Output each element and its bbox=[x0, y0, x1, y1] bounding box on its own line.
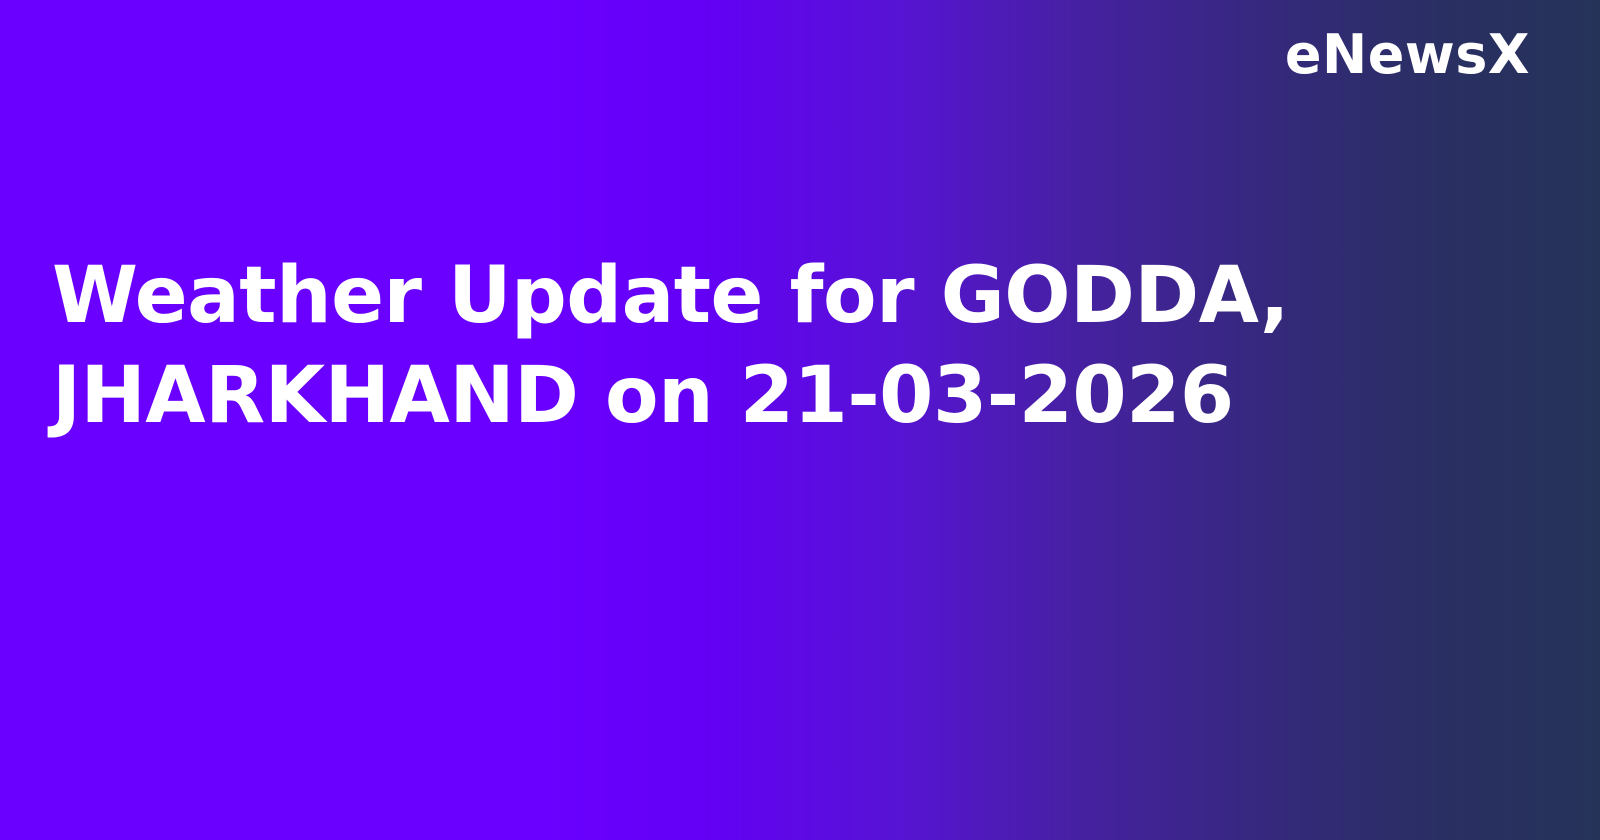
brand-logo-container[interactable]: eNewsX bbox=[1285, 28, 1530, 82]
headline-container: Weather Update for GODDA, JHARKHAND on 2… bbox=[52, 246, 1422, 446]
weather-update-banner: eNewsX Weather Update for GODDA, JHARKHA… bbox=[0, 0, 1600, 840]
page-title: Weather Update for GODDA, JHARKHAND on 2… bbox=[52, 246, 1422, 446]
enewsx-logo[interactable]: eNewsX bbox=[1285, 28, 1530, 82]
